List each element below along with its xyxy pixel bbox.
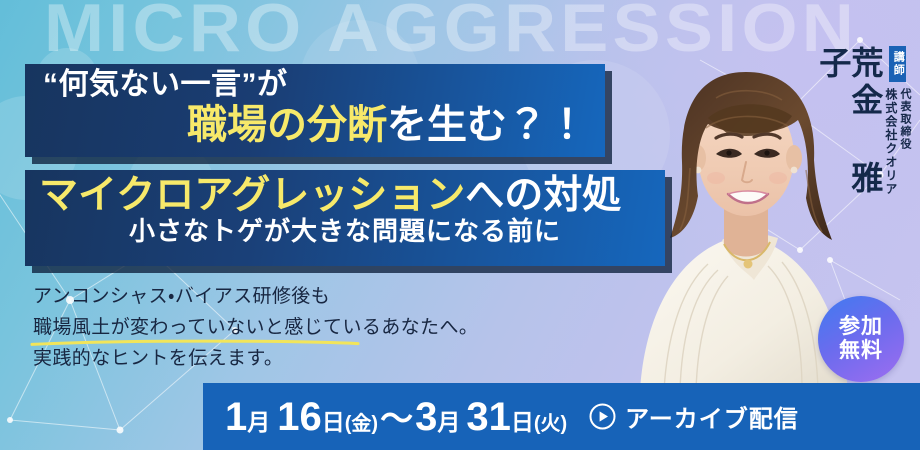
- speaker-name: 荒金 雅子: [817, 46, 881, 231]
- headline-block-primary: “何気ない一言”が 職場の分断を生む？！: [25, 64, 605, 157]
- body-copy-line: 実践的なヒントを伝えます。: [33, 344, 478, 375]
- body-copy-line: アンコンシャス・バイアス研修後も: [33, 282, 478, 313]
- start-day-unit: 日: [322, 411, 345, 434]
- speaker-org-block: 株式会社クオリア 代表取締役: [883, 88, 912, 196]
- free-admission-badge: 参加 無料: [818, 296, 904, 382]
- start-month-number: 1: [225, 397, 247, 437]
- end-day-number: 31: [460, 397, 511, 437]
- start-weekday: (金): [345, 414, 378, 434]
- end-day-unit: 日: [511, 411, 534, 434]
- schedule-bar: 1 月 16 日 (金) 〜 3 月 31 日 (火) アーカイブ配信: [203, 383, 920, 450]
- headline-line-2: 職場の分断を生む？！: [39, 105, 591, 146]
- end-weekday: (火): [534, 414, 567, 434]
- event-date-range: 1 月 16 日 (金) 〜 3 月 31 日 (火): [225, 397, 567, 437]
- archive-label: アーカイブ配信: [625, 399, 799, 434]
- start-month-unit: 月: [247, 411, 270, 434]
- headline-highlight-topic: マイクロアグレッション: [39, 174, 465, 217]
- speaker-role-badge: 講師: [889, 46, 906, 82]
- free-badge-line-2: 無料: [839, 339, 883, 363]
- headline-topic-rest: への対処: [465, 174, 621, 217]
- speaker-title: 代表取締役: [898, 88, 911, 196]
- speaker-info: 荒金 雅子 講師 株式会社クオリア 代表取締役: [813, 46, 920, 261]
- headline-line-1: “何気ない一言”が: [39, 70, 591, 101]
- end-month-unit: 月: [437, 411, 460, 434]
- webinar-banner: MICRO AGGRESSION: [0, 0, 920, 450]
- headline-highlight: 職場の分断: [187, 103, 387, 147]
- headline-rest: を生む？！: [387, 103, 587, 147]
- headline-line-3: マイクロアグレッションへの対処: [39, 176, 651, 216]
- body-copy-line: 職場風土が変わっていないと感じているあなたへ。: [33, 313, 478, 344]
- date-range-separator: 〜: [378, 402, 415, 435]
- speaker-company: 株式会社クオリア: [883, 88, 897, 196]
- body-copy: アンコンシャス・バイアス研修後も 職場風土が変わっていないと感じているあなたへ。…: [33, 282, 478, 375]
- speaker-meta: 講師 株式会社クオリア 代表取締役: [883, 46, 912, 196]
- archive-delivery: アーカイブ配信: [589, 399, 799, 434]
- headline-subtitle: 小さなトゲが大きな問題になる前に: [39, 218, 651, 245]
- start-day-number: 16: [270, 397, 322, 437]
- body-copy-line-text: 職場風土が変わっていないと感じているあなたへ。: [33, 317, 478, 338]
- end-month-number: 3: [415, 397, 437, 437]
- free-badge-line-1: 参加: [839, 315, 883, 339]
- play-circle-icon: [589, 403, 616, 430]
- headline-block-secondary: マイクロアグレッションへの対処 小さなトゲが大きな問題になる前に: [25, 170, 665, 266]
